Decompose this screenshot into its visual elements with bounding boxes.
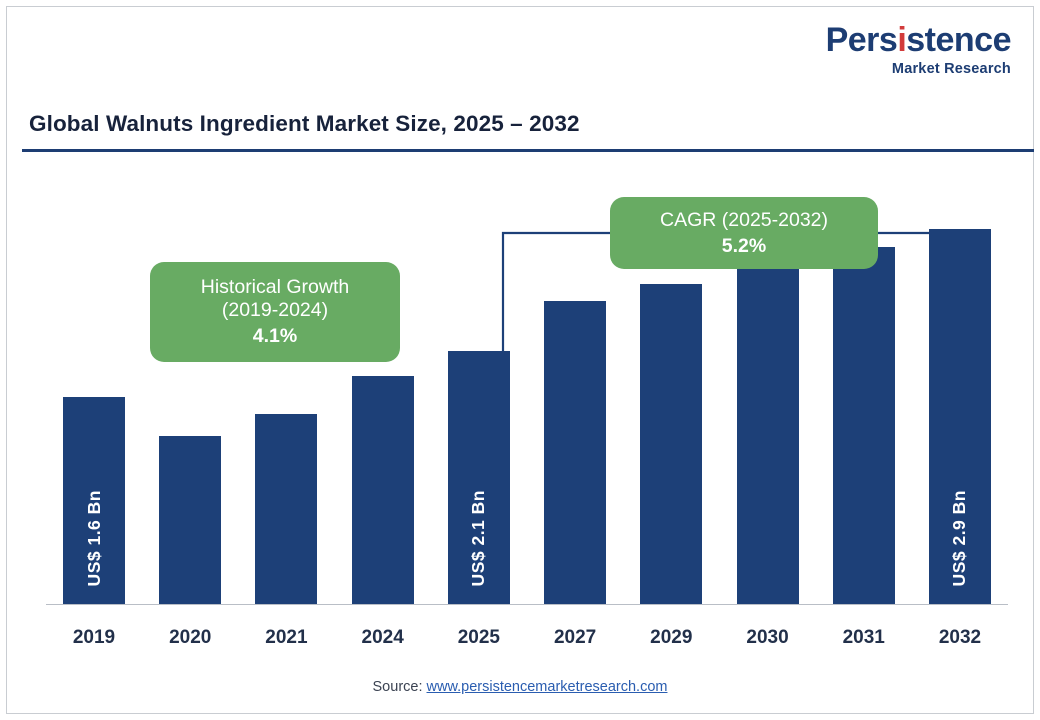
bar-chart: US$ 1.6 Bn US$ 2.1 Bn — [22, 157, 1034, 677]
x-tick-label: 2029 — [623, 627, 719, 649]
callout-cagr: CAGR (2025-2032) 5.2% — [610, 197, 878, 269]
title-divider — [22, 149, 1034, 152]
callout-cagr-line1: CAGR (2025-2032) — [660, 209, 828, 232]
company-logo: Persistence Market Research — [826, 23, 1011, 77]
x-axis-line — [46, 604, 1008, 605]
x-tick-label: 2027 — [527, 627, 623, 649]
x-tick-label: 2025 — [431, 627, 527, 649]
source-link[interactable]: www.persistencemarketresearch.com — [427, 679, 668, 695]
bar-2032[interactable]: US$ 2.9 Bn — [929, 229, 991, 604]
x-tick-label: 2020 — [142, 627, 238, 649]
callout-historical-value: 4.1% — [253, 325, 297, 348]
bar-column: US$ 1.6 Bn — [46, 204, 142, 604]
callout-historical-line2: (2019-2024) — [222, 299, 328, 322]
bar-column — [527, 204, 623, 604]
source-note: Source: www.persistencemarketresearch.co… — [7, 679, 1033, 695]
source-prefix: Source: — [373, 679, 427, 695]
bar-2031[interactable] — [833, 247, 895, 604]
x-axis-labels: 2019 2020 2021 2024 2025 2027 2029 2030 … — [46, 627, 1008, 649]
bar-2029[interactable] — [640, 284, 702, 604]
logo-brand-text: Persistence — [826, 23, 1011, 57]
x-tick-label: 2019 — [46, 627, 142, 649]
x-tick-label: 2030 — [720, 627, 816, 649]
bar-value-label: US$ 2.9 Bn — [949, 490, 970, 586]
chart-card: Persistence Market Research Global Walnu… — [6, 6, 1034, 714]
x-tick-label: 2032 — [912, 627, 1008, 649]
callout-historical-line1: Historical Growth — [201, 276, 349, 299]
x-tick-label: 2024 — [335, 627, 431, 649]
x-tick-label: 2031 — [816, 627, 912, 649]
bar-value-label: US$ 1.6 Bn — [84, 490, 105, 586]
bar-2021[interactable] — [255, 414, 317, 604]
bar-2030[interactable] — [737, 266, 799, 604]
bar-2024[interactable] — [352, 376, 414, 604]
callout-historical-growth: Historical Growth (2019-2024) 4.1% — [150, 262, 400, 362]
bar-value-label: US$ 2.1 Bn — [468, 490, 489, 586]
logo-subtitle: Market Research — [826, 62, 1011, 77]
bar-column: US$ 2.9 Bn — [912, 204, 1008, 604]
x-tick-label: 2021 — [238, 627, 334, 649]
callout-cagr-value: 5.2% — [722, 235, 766, 258]
bar-2020[interactable] — [159, 436, 221, 604]
bar-2025[interactable]: US$ 2.1 Bn — [448, 351, 510, 604]
bar-2027[interactable] — [544, 301, 606, 604]
logo-dot-accent: i — [897, 21, 906, 59]
bar-column: US$ 2.1 Bn — [431, 204, 527, 604]
page-title: Global Walnuts Ingredient Market Size, 2… — [29, 111, 580, 137]
bar-2019[interactable]: US$ 1.6 Bn — [63, 397, 125, 604]
